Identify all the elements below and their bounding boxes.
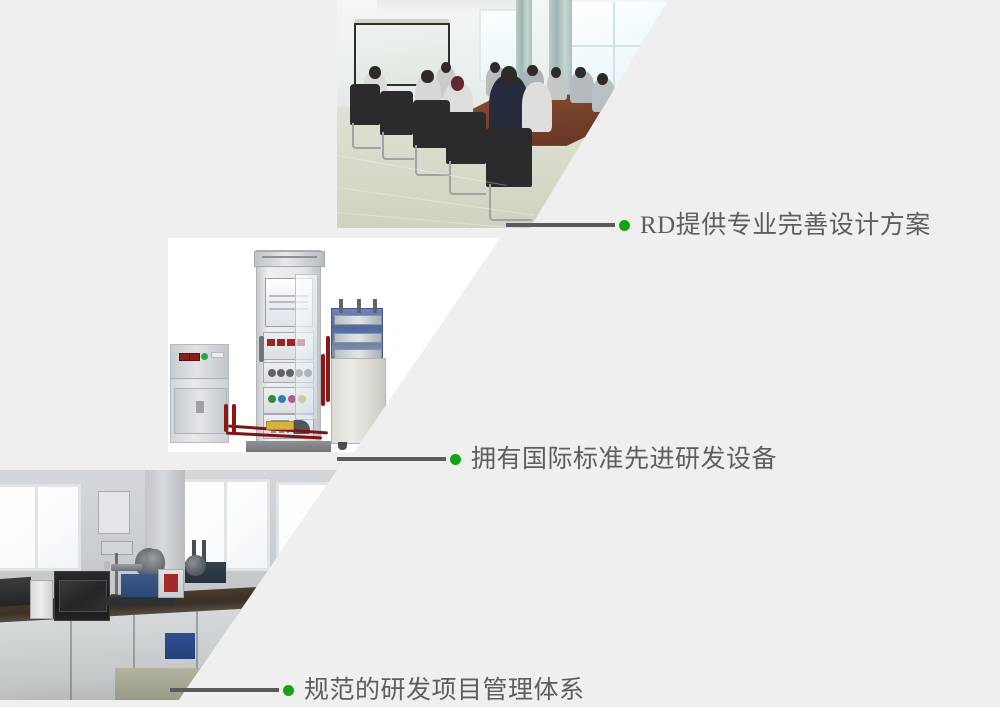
- caption-rule: [506, 223, 615, 227]
- caption-rule: [337, 457, 446, 461]
- rd-equipment-image-panel[interactable]: [168, 238, 500, 452]
- bullet-dot-icon: [450, 454, 461, 465]
- rd-management-caption-text: 规范的研发项目管理体系: [304, 678, 585, 703]
- rd-capability-showcase: RD提供专业完善设计方案: [0, 0, 1000, 700]
- rd-equipment-caption-text: 拥有国际标准先进研发设备: [471, 447, 777, 472]
- bullet-dot-icon: [283, 685, 294, 696]
- rd-management-caption: 规范的研发项目管理体系: [170, 673, 585, 707]
- rd-design-caption-text: RD提供专业完善设计方案: [640, 213, 931, 238]
- meeting-room-photo: [337, 0, 668, 228]
- bullet-dot-icon: [619, 220, 630, 231]
- rd-design-image-panel[interactable]: [337, 0, 668, 228]
- rd-equipment-caption: 拥有国际标准先进研发设备: [337, 442, 777, 476]
- laboratory-equipment-photo: [168, 238, 500, 452]
- rd-design-caption: RD提供专业完善设计方案: [506, 208, 931, 242]
- caption-rule: [170, 688, 279, 692]
- rd-management-image-panel[interactable]: [0, 470, 337, 700]
- workshop-test-bench-photo: [0, 470, 337, 700]
